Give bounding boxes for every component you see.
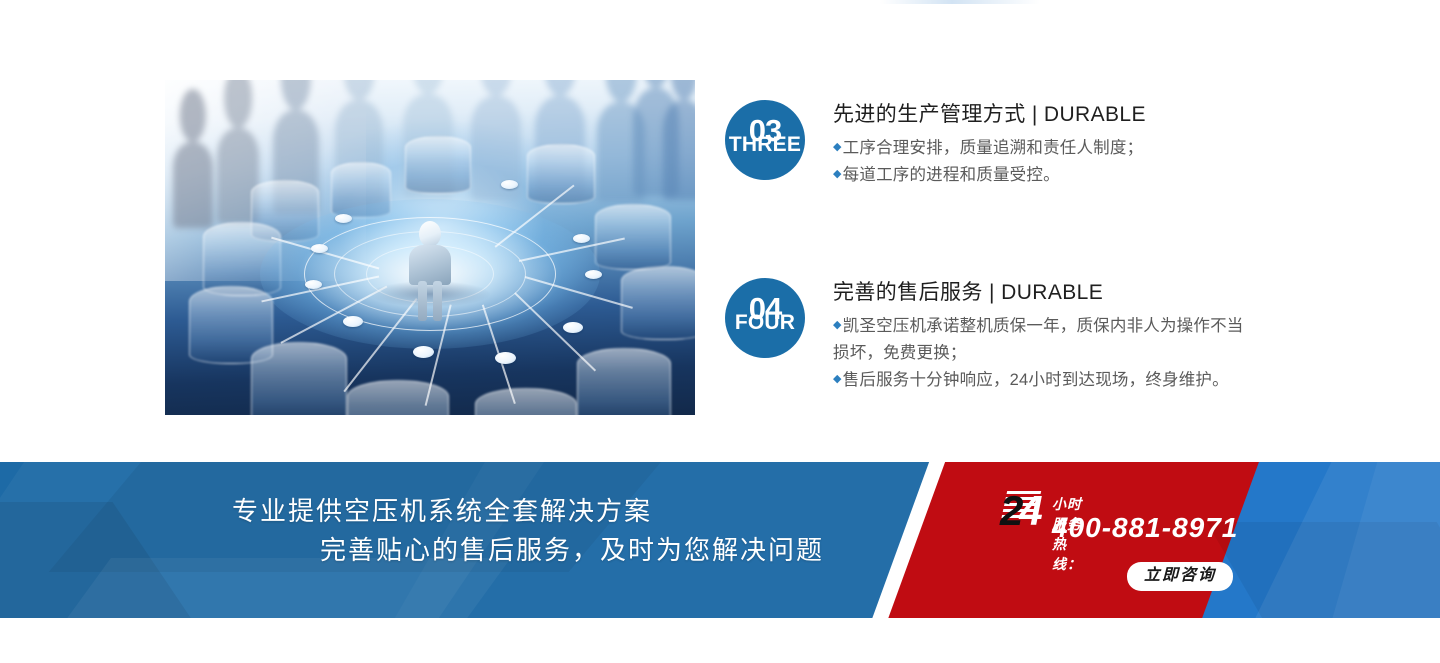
network-node — [311, 244, 328, 253]
feature-bullet-item: ◆凯圣空压机承诺整机质保一年，质保内非人为操作不当损坏，免费更换； — [833, 313, 1253, 366]
node-cylinder — [621, 266, 695, 340]
feature-block-03: 03 THREE 先进的生产管理方式 | DURABLE ◆工序合理安排，质量追… — [725, 100, 1146, 189]
hotline-number: 400-881-8971 — [1052, 512, 1238, 544]
network-node — [573, 234, 590, 243]
silhouette-person — [173, 142, 213, 228]
network-node — [501, 180, 518, 189]
feature-bullet-item: ◆每道工序的进程和质量受控。 — [833, 162, 1146, 189]
hotline-digit-4: 4 — [1019, 487, 1040, 534]
network-node — [495, 352, 516, 364]
person-head — [419, 221, 441, 247]
cta-banner: 专业提供空压机系统全套解决方案 完善贴心的售后服务，及时为您解决问题 24 小时… — [0, 462, 1440, 618]
network-node — [563, 322, 583, 333]
node-cylinder — [405, 136, 471, 194]
diamond-bullet-icon: ◆ — [833, 141, 842, 153]
feature-text-04: 完善的售后服务 | DURABLE ◆凯圣空压机承诺整机质保一年，质保内非人为操… — [833, 278, 1253, 393]
network-node — [305, 280, 322, 289]
feature-bullet-item: ◆工序合理安排，质量追溯和责任人制度； — [833, 135, 1146, 162]
node-cylinder — [475, 388, 577, 415]
twenty-four-hour-mark: 24 — [1000, 490, 1041, 532]
network-node — [335, 214, 352, 223]
silhouette-person — [663, 100, 695, 200]
network-people-illustration — [165, 80, 695, 415]
slogan-line-2: 完善贴心的售后服务，及时为您解决问题 — [320, 531, 824, 570]
feature-bullet-item: ◆售后服务十分钟响应，24小时到达现场，终身维护。 — [833, 367, 1253, 394]
person-leg-right — [433, 281, 442, 321]
feature-bullet-text: 每道工序的进程和质量受控。 — [843, 166, 1060, 184]
feature-bullet-text: 工序合理安排，质量追溯和责任人制度； — [843, 139, 1144, 157]
person-torso — [409, 245, 451, 285]
feature-bullet-text: 凯圣空压机承诺整机质保一年，质保内非人为操作不当损坏，免费更换； — [833, 317, 1243, 362]
feature-bullet-list: ◆凯圣空压机承诺整机质保一年，质保内非人为操作不当损坏，免费更换； ◆售后服务十… — [833, 313, 1253, 393]
feature-title: 完善的售后服务 | DURABLE — [833, 280, 1253, 306]
top-edge-remnant — [880, 0, 1040, 4]
slogan-line-1: 专业提供空压机系统全套解决方案 — [232, 492, 824, 531]
network-node — [585, 270, 602, 279]
feature-block-04: 04 FOUR 完善的售后服务 | DURABLE ◆凯圣空压机承诺整机质保一年… — [725, 278, 1253, 393]
feature-bullet-text: 售后服务十分钟响应，24小时到达现场，终身维护。 — [843, 371, 1229, 389]
consult-now-button[interactable]: 立即咨询 — [1127, 562, 1233, 591]
node-cylinder — [251, 342, 347, 415]
diamond-bullet-icon: ◆ — [833, 373, 842, 385]
feature-badge-03: 03 THREE — [725, 100, 805, 180]
diamond-bullet-icon: ◆ — [833, 168, 842, 180]
network-node — [343, 316, 363, 327]
network-node — [413, 346, 434, 358]
badge-word: THREE — [725, 134, 805, 155]
node-cylinder — [577, 348, 671, 415]
node-cylinder — [595, 204, 671, 270]
feature-text-03: 先进的生产管理方式 | DURABLE ◆工序合理安排，质量追溯和责任人制度； … — [833, 100, 1146, 189]
badge-word: FOUR — [725, 312, 805, 333]
figure-shadow — [370, 281, 490, 307]
feature-title: 先进的生产管理方式 | DURABLE — [833, 102, 1146, 128]
feature-badge-04: 04 FOUR — [725, 278, 805, 358]
node-cylinder — [347, 380, 449, 415]
banner-slogan: 专业提供空压机系统全套解决方案 完善贴心的售后服务，及时为您解决问题 — [232, 492, 824, 570]
person-leg-left — [418, 281, 427, 321]
feature-bullet-list: ◆工序合理安排，质量追溯和责任人制度； ◆每道工序的进程和质量受控。 — [833, 135, 1146, 188]
diamond-bullet-icon: ◆ — [833, 319, 842, 331]
